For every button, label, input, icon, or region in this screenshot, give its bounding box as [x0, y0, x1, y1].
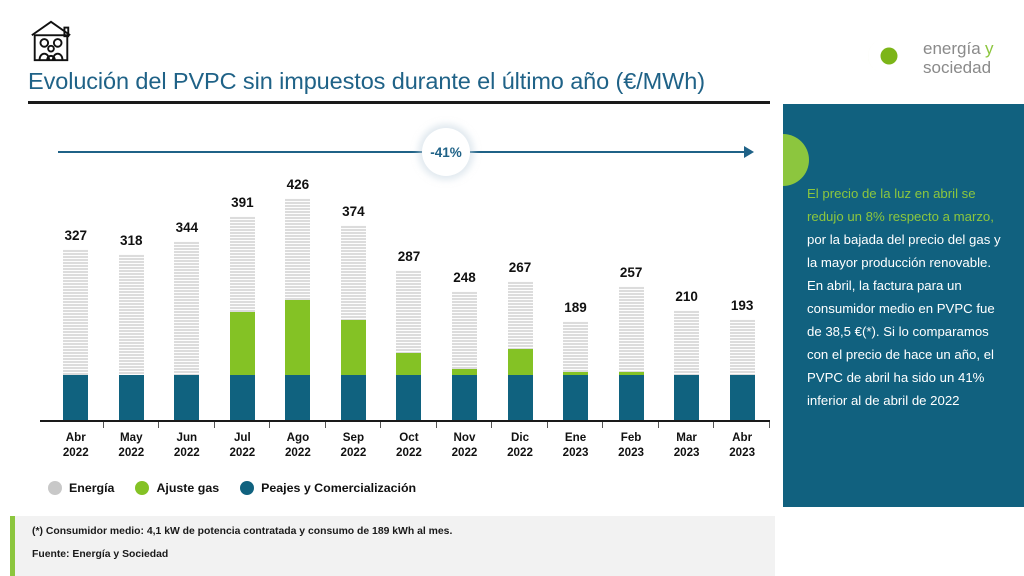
- x-axis-label: Oct2022: [381, 430, 437, 460]
- arrow-right-icon: [744, 146, 754, 158]
- x-axis-tick: [326, 422, 382, 428]
- bar-segment-peajes: [63, 375, 88, 420]
- x-axis-label-year: 2022: [104, 445, 160, 460]
- bar-value-label: 374: [342, 204, 365, 219]
- bar-segment-energia: [508, 281, 533, 349]
- tick-mark: [769, 422, 770, 428]
- stacked-bar[interactable]: 426: [285, 198, 310, 420]
- chart-column: 344: [159, 180, 215, 420]
- chart-column: 391: [215, 180, 271, 420]
- x-axis-ticks: [48, 422, 770, 428]
- bar-segment-peajes: [174, 375, 199, 420]
- x-axis-label-month: Oct: [381, 430, 437, 445]
- bar-segment-ajuste-gas: [230, 312, 255, 375]
- bar-segment-peajes: [674, 375, 699, 420]
- footer-accent-bar: [10, 516, 15, 576]
- stacked-bar[interactable]: 287: [396, 270, 421, 420]
- x-axis-tick: [270, 422, 326, 428]
- bar-segment-energia: [674, 310, 699, 375]
- bar-segment-energia: [396, 270, 421, 353]
- x-axis-label: Ene2023: [548, 430, 604, 460]
- chart-column: 287: [381, 180, 437, 420]
- x-axis-tick: [381, 422, 437, 428]
- commentary-panel: El precio de la luz en abril se redujo u…: [783, 104, 1024, 507]
- stacked-bar[interactable]: 374: [341, 225, 366, 420]
- x-axis-tick: [48, 422, 104, 428]
- chart-column: 374: [326, 180, 382, 420]
- bar-segment-ajuste-gas: [285, 300, 310, 375]
- x-axis-label: Jul2022: [215, 430, 271, 460]
- legend-item[interactable]: Ajuste gas: [135, 481, 219, 495]
- x-axis-label-year: 2022: [326, 445, 382, 460]
- chart-column: 257: [603, 180, 659, 420]
- stacked-bar[interactable]: 248: [452, 291, 477, 420]
- x-axis-label-month: Abr: [48, 430, 104, 445]
- stacked-bar[interactable]: 318: [119, 254, 144, 420]
- stacked-bar[interactable]: 193: [730, 319, 755, 420]
- commentary-body: por la bajada del precio del gas y la ma…: [807, 232, 1001, 408]
- stacked-bar[interactable]: 327: [63, 249, 88, 420]
- bar-value-label: 327: [65, 228, 88, 243]
- x-axis-label: Nov2022: [437, 430, 493, 460]
- x-axis-label-year: 2022: [437, 445, 493, 460]
- x-axis-label: Mar2023: [659, 430, 715, 460]
- x-axis-tick: [659, 422, 715, 428]
- legend-item[interactable]: Peajes y Comercialización: [240, 481, 416, 495]
- bar-segment-energia: [230, 216, 255, 312]
- bar-segment-peajes: [508, 375, 533, 420]
- x-axis-label-month: Mar: [659, 430, 715, 445]
- title-divider: [28, 101, 770, 104]
- x-axis-label-month: May: [104, 430, 160, 445]
- x-axis-label: Abr2022: [48, 430, 104, 460]
- bar-value-label: 267: [509, 260, 532, 275]
- x-axis-label-month: Dic: [492, 430, 548, 445]
- bar-segment-peajes: [119, 375, 144, 420]
- x-axis-label-month: Abr: [714, 430, 770, 445]
- bar-segment-energia: [619, 286, 644, 372]
- bar-segment-peajes: [341, 375, 366, 420]
- bar-segment-energia: [452, 291, 477, 369]
- legend-item[interactable]: Energía: [48, 481, 114, 495]
- bar-value-label: 426: [287, 177, 310, 192]
- bar-segment-energia: [63, 249, 88, 375]
- x-axis-label-month: Nov: [437, 430, 493, 445]
- bar-segment-peajes: [230, 375, 255, 420]
- legend-label: Peajes y Comercialización: [261, 481, 416, 495]
- bar-segment-peajes: [619, 375, 644, 420]
- x-axis-label-year: 2022: [270, 445, 326, 460]
- svg-text:y: y: [985, 39, 994, 58]
- bar-segment-energia: [341, 225, 366, 320]
- legend-label: Energía: [69, 481, 114, 495]
- x-axis-label-month: Ago: [270, 430, 326, 445]
- x-axis-label-year: 2023: [603, 445, 659, 460]
- commentary-text: El precio de la luz en abril se redujo u…: [807, 182, 1003, 412]
- chart-column: 248: [437, 180, 493, 420]
- bar-segment-peajes: [563, 375, 588, 420]
- chart-column: 267: [492, 180, 548, 420]
- delta-badge: -41%: [422, 128, 470, 176]
- x-axis-label-year: 2023: [714, 445, 770, 460]
- stacked-bar[interactable]: 189: [563, 321, 588, 420]
- bar-value-label: 318: [120, 233, 143, 248]
- x-axis-label: Sep2022: [326, 430, 382, 460]
- bar-segment-peajes: [730, 375, 755, 420]
- bar-segment-ajuste-gas: [396, 353, 421, 375]
- footer: (*) Consumidor medio: 4,1 kW de potencia…: [10, 516, 775, 576]
- bar-segment-ajuste-gas: [341, 320, 366, 375]
- bar-segment-peajes: [396, 375, 421, 420]
- pvpc-stacked-bar-chart: 327318344391426374287248267189257210193 …: [40, 180, 770, 425]
- x-axis-tick: [714, 422, 770, 428]
- x-axis-label: Ago2022: [270, 430, 326, 460]
- x-axis-label-year: 2023: [548, 445, 604, 460]
- chart-column: 210: [659, 180, 715, 420]
- legend-label: Ajuste gas: [156, 481, 219, 495]
- bar-value-label: 391: [231, 195, 254, 210]
- x-axis-label-month: Feb: [603, 430, 659, 445]
- x-axis-label-year: 2022: [48, 445, 104, 460]
- bar-value-label: 257: [620, 265, 643, 280]
- x-axis-label: Jun2022: [159, 430, 215, 460]
- bar-value-label: 210: [675, 289, 698, 304]
- svg-text:sociedad: sociedad: [923, 58, 991, 77]
- legend-color-swatch: [48, 481, 62, 495]
- bar-segment-energia: [730, 319, 755, 375]
- bar-segment-peajes: [285, 375, 310, 420]
- x-axis-label-month: Sep: [326, 430, 382, 445]
- chart-legend: EnergíaAjuste gasPeajes y Comercializaci…: [48, 481, 429, 495]
- x-axis-tick: [215, 422, 271, 428]
- stacked-bar[interactable]: 391: [230, 216, 255, 420]
- bar-segment-energia: [285, 198, 310, 300]
- arrow-line: [58, 151, 746, 153]
- legend-color-swatch: [135, 481, 149, 495]
- bar-value-label: 189: [564, 300, 587, 315]
- bar-value-label: 287: [398, 249, 421, 264]
- legend-color-swatch: [240, 481, 254, 495]
- x-axis-label-year: 2022: [381, 445, 437, 460]
- bar-segment-energia: [174, 241, 199, 376]
- bar-value-label: 193: [731, 298, 754, 313]
- page-title: Evolución del PVPC sin impuestos durante…: [28, 68, 705, 95]
- x-axis-label: Dic2022: [492, 430, 548, 460]
- bar-segment-ajuste-gas: [508, 349, 533, 375]
- x-axis-label: Abr2023: [714, 430, 770, 460]
- x-axis-label-year: 2022: [492, 445, 548, 460]
- x-axis-labels: Abr2022May2022Jun2022Jul2022Ago2022Sep20…: [48, 430, 770, 460]
- x-axis-label: Feb2023: [603, 430, 659, 460]
- house-family-icon: [28, 18, 74, 64]
- bar-segment-energia: [563, 321, 588, 372]
- x-axis-tick: [548, 422, 604, 428]
- x-axis-label-month: Ene: [548, 430, 604, 445]
- x-axis-label: May2022: [104, 430, 160, 460]
- commentary-highlight: El precio de la luz en abril se redujo u…: [807, 186, 994, 224]
- stacked-bar[interactable]: 210: [674, 310, 699, 420]
- stacked-bar[interactable]: 344: [174, 241, 199, 420]
- stacked-bar[interactable]: 267: [508, 281, 533, 420]
- footer-source: Fuente: Energía y Sociedad: [32, 549, 168, 560]
- x-axis-label-year: 2022: [215, 445, 271, 460]
- chart-column: 327: [48, 180, 104, 420]
- x-axis-label-month: Jul: [215, 430, 271, 445]
- x-axis-label-month: Jun: [159, 430, 215, 445]
- bar-segment-peajes: [452, 375, 477, 420]
- chart-plot-area: 327318344391426374287248267189257210193: [48, 180, 770, 420]
- x-axis-tick: [159, 422, 215, 428]
- chart-column: 318: [104, 180, 160, 420]
- bar-value-label: 344: [176, 220, 199, 235]
- bar-segment-energia: [119, 254, 144, 375]
- chart-column: 426: [270, 180, 326, 420]
- delta-annotation: -41%: [50, 128, 760, 176]
- decorative-circle: [783, 134, 809, 186]
- energia-y-sociedad-logo: energía y sociedad: [845, 28, 1015, 84]
- footer-note: (*) Consumidor medio: 4,1 kW de potencia…: [32, 526, 452, 537]
- x-axis-tick: [603, 422, 659, 428]
- x-axis-tick: [492, 422, 548, 428]
- chart-column: 193: [714, 180, 770, 420]
- x-axis-label-year: 2022: [159, 445, 215, 460]
- bar-value-label: 248: [453, 270, 476, 285]
- x-axis-tick: [104, 422, 160, 428]
- chart-column: 189: [548, 180, 604, 420]
- x-axis-label-year: 2023: [659, 445, 715, 460]
- svg-text:energía: energía: [923, 39, 981, 58]
- stacked-bar[interactable]: 257: [619, 286, 644, 420]
- x-axis-tick: [437, 422, 493, 428]
